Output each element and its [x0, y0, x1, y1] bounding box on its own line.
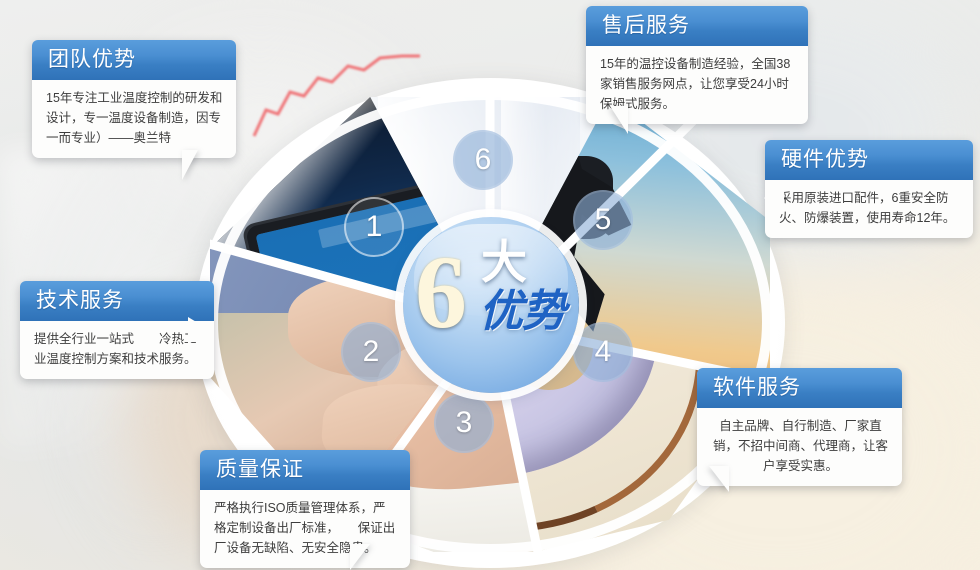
center-badge: 6 大 优势 [403, 217, 579, 393]
segment-number-6[interactable]: 6 [453, 130, 513, 190]
callout-hardware-advantage[interactable]: 硬件优势 采用原装进口配件，6重安全防火、防爆装置，使用寿命12年。 [765, 140, 973, 238]
callout-body-hardware: 采用原装进口配件，6重安全防火、防爆装置，使用寿命12年。 [765, 180, 973, 238]
segment-number-2[interactable]: 2 [341, 322, 401, 382]
callout-technical-service[interactable]: 技术服务 提供全行业一站式 冷热工业温度控制方案和技术服务。 [20, 281, 214, 379]
segment-number-3[interactable]: 3 [434, 393, 494, 453]
callout-title-aftersale: 售后服务 [586, 6, 808, 46]
callout-tail-tech [188, 317, 208, 345]
callout-after-sales-service[interactable]: 售后服务 15年的温控设备制造经验，全国38家销售服务网点，让您享受24小时保姆… [586, 6, 808, 124]
callout-title-hardware: 硬件优势 [765, 140, 973, 180]
center-number-six: 6 [415, 241, 467, 345]
segment-number-1[interactable]: 1 [344, 197, 404, 257]
center-char-da: 大 [481, 239, 527, 285]
segment-number-4[interactable]: 4 [573, 322, 633, 382]
callout-tail-aftersale [610, 106, 628, 134]
center-script-youshi: 优势 [479, 289, 565, 335]
callout-tail-team [182, 150, 198, 180]
callout-body-quality: 严格执行ISO质量管理体系，严格定制设备出厂标准， 保证出厂设备无缺陷、无安全隐… [200, 490, 410, 568]
callout-tail-software [709, 466, 729, 492]
segment-number-5[interactable]: 5 [573, 190, 633, 250]
callout-title-quality: 质量保证 [200, 450, 410, 490]
callout-software-service[interactable]: 软件服务 自主品牌、自行制造、厂家直销，不招中间商、代理商，让客户享受实惠。 [697, 368, 902, 486]
callout-title-tech: 技术服务 [20, 281, 214, 321]
callout-tail-quality [350, 544, 370, 570]
callout-body-team: 15年专注工业温度控制的研发和设计，专一温度设备制造，因专一而专业）——奥兰特 [32, 80, 236, 158]
callout-title-software: 软件服务 [697, 368, 902, 408]
callout-team-advantage[interactable]: 团队优势 15年专注工业温度控制的研发和设计，专一温度设备制造，因专一而专业）—… [32, 40, 236, 158]
callout-title-team: 团队优势 [32, 40, 236, 80]
callout-body-tech: 提供全行业一站式 冷热工业温度控制方案和技术服务。 [20, 321, 214, 379]
callout-tail-hardware [764, 184, 784, 214]
callout-quality-assurance[interactable]: 质量保证 严格执行ISO质量管理体系，严格定制设备出厂标准， 保证出厂设备无缺陷… [200, 450, 410, 568]
